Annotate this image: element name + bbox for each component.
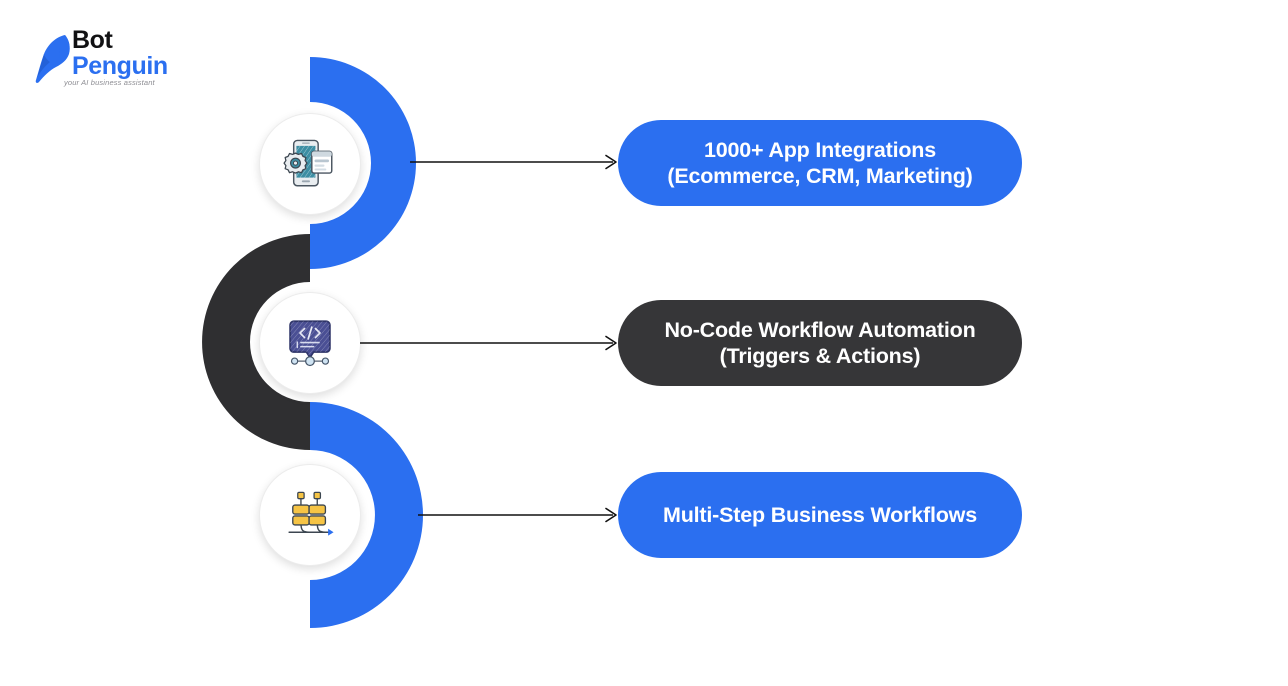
connector-arrow-3 [418,505,622,525]
feature-pill-label-2: No-Code Workflow Automation (Triggers & … [636,317,1004,369]
connector-arrow-1 [410,152,622,172]
icon-circle-multi-step-workflow[interactable] [259,464,361,566]
multi-step-workflow-icon [281,486,339,544]
feature-pill-multi-step-workflow[interactable]: Multi-Step Business Workflows [618,472,1022,558]
feature-pill-label-3: Multi-Step Business Workflows [636,502,1004,528]
infographic-canvas: Bot Penguin your AI business assistant [0,0,1288,686]
brand-name-line2: Penguin [72,53,222,80]
connector-arrow-2 [360,333,622,353]
icon-circle-no-code-workflow[interactable] [259,292,361,394]
brand-name-line1: Bot [72,28,222,53]
mobile-app-integration-icon [281,135,339,193]
no-code-workflow-icon [281,314,339,372]
icon-circle-app-integrations[interactable] [259,113,361,215]
brand-wordmark: Bot Penguin [72,28,222,80]
brand-logo[interactable]: Bot Penguin your AI business assistant [34,28,224,98]
feature-pill-app-integrations[interactable]: 1000+ App Integrations (Ecommerce, CRM, … [618,120,1022,206]
feature-pill-label-1: 1000+ App Integrations (Ecommerce, CRM, … [636,137,1004,189]
penguin-logo-icon [34,34,76,84]
brand-tagline: your AI business assistant [64,78,155,87]
feature-pill-no-code-workflow[interactable]: No-Code Workflow Automation (Triggers & … [618,300,1022,386]
